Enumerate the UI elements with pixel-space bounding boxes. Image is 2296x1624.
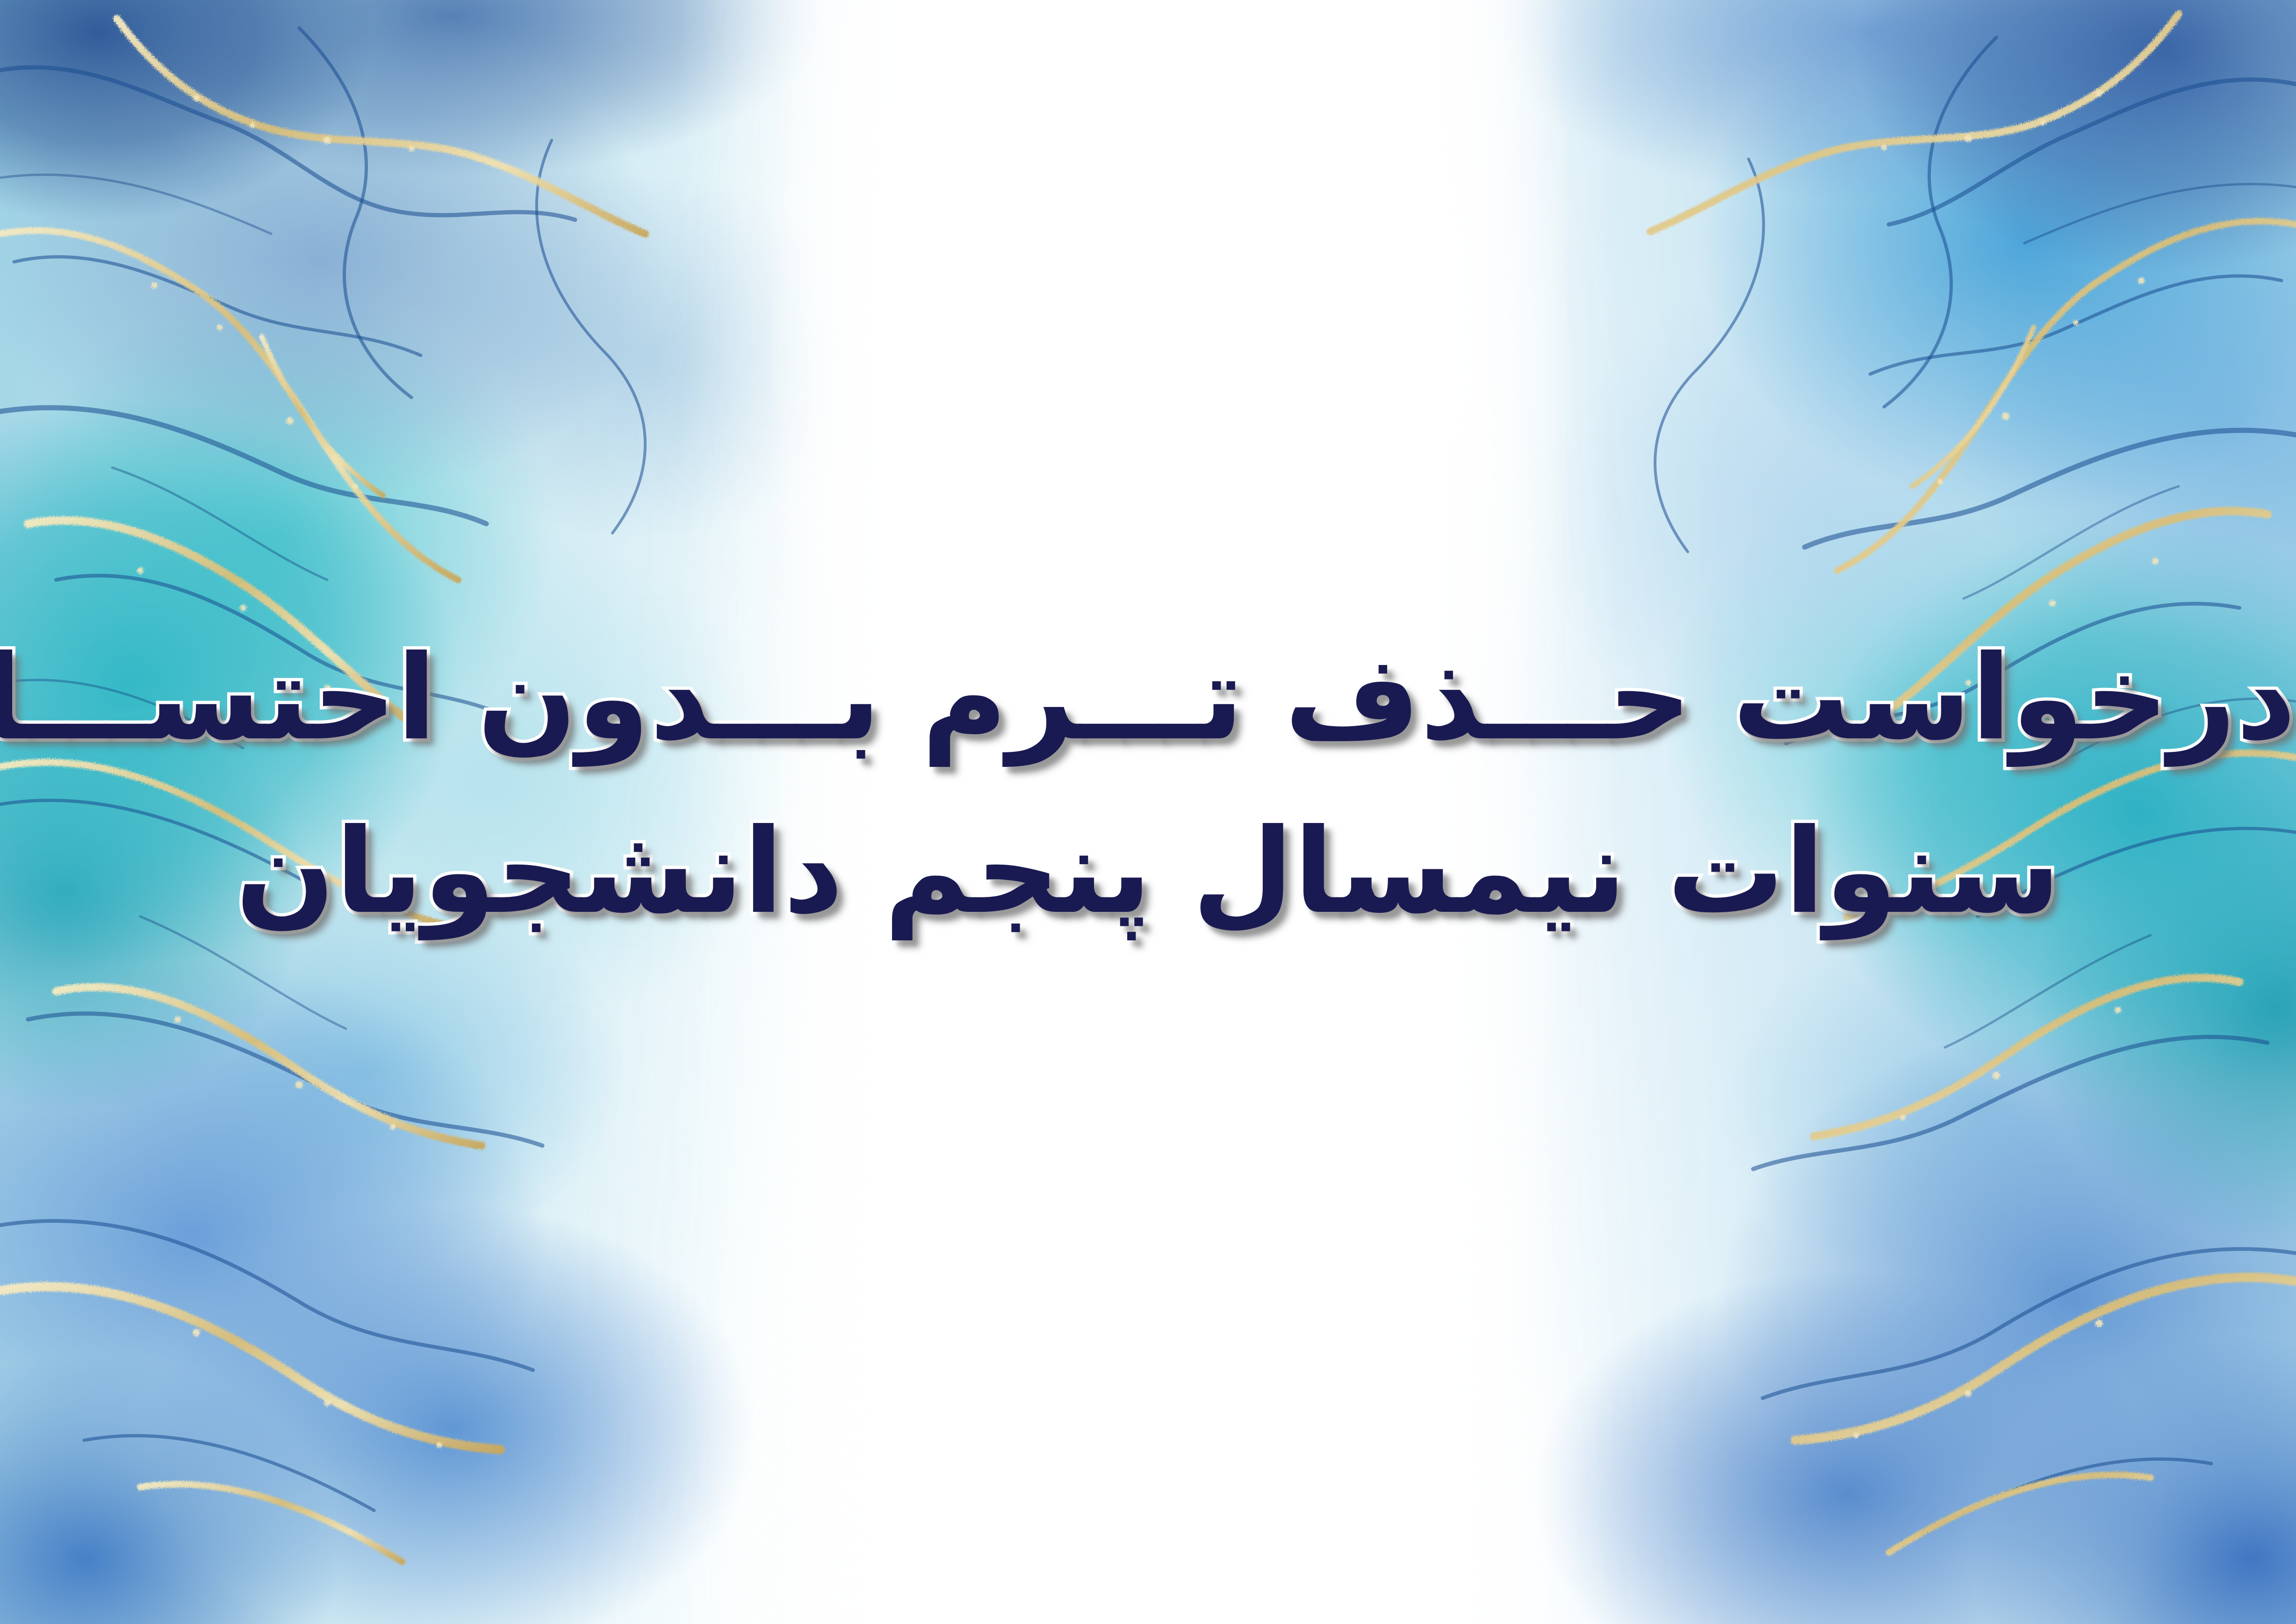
slide-title-block: درخواست حـــذف تـــرم بـــدون احتســـاب … (0, 622, 2296, 947)
slide-canvas: درخواست حـــذف تـــرم بـــدون احتســـاب … (0, 0, 2296, 1624)
title-line-1: درخواست حـــذف تـــرم بـــدون احتســـاب (0, 622, 2296, 774)
title-line-2: سنوات نیمسال پنجم دانشجویان (0, 795, 2296, 947)
